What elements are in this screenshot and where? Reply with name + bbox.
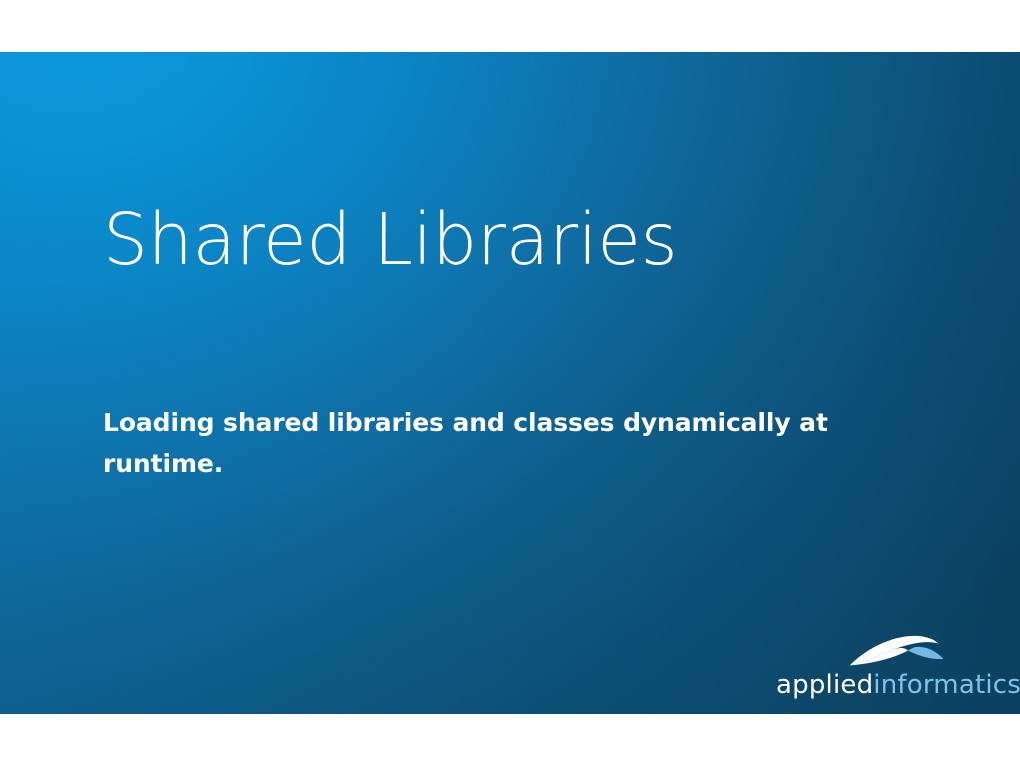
swoosh-icon (848, 632, 952, 668)
slide-background (0, 52, 1020, 714)
logo-word-informatics: informatics (873, 670, 1020, 700)
logo-wordmark: appliedinformatics (776, 670, 1016, 700)
slide-subtitle: Loading shared libraries and classes dyn… (103, 402, 903, 484)
slide-background-tint (0, 52, 1020, 714)
page-title: Shared Libraries (103, 198, 903, 282)
slide-canvas: Shared Libraries Loading shared librarie… (0, 0, 1020, 765)
logo-word-applied: applied (776, 670, 873, 700)
logo: appliedinformatics (776, 630, 1016, 704)
